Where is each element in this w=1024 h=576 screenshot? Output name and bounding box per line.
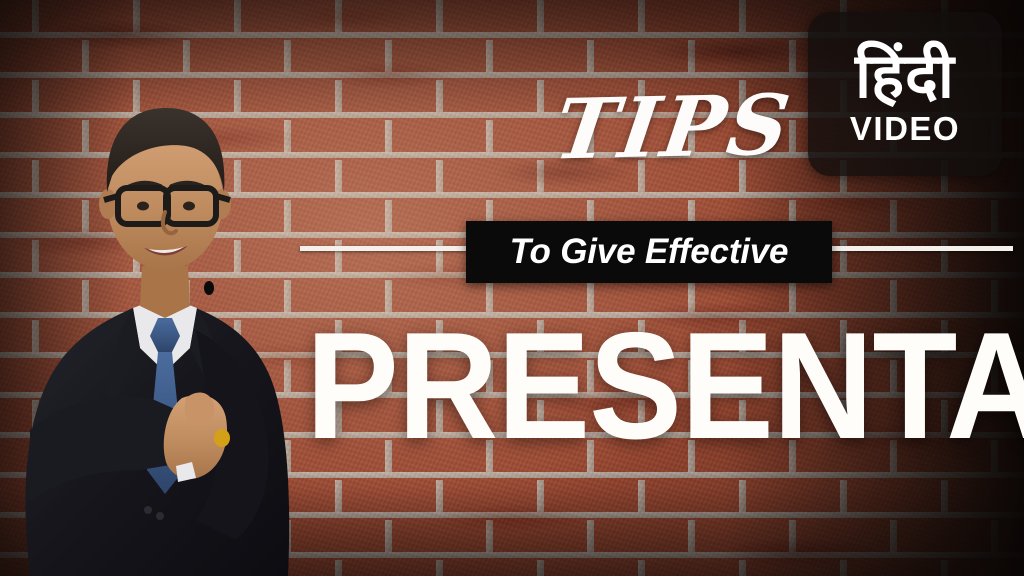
jacket-button xyxy=(156,512,164,520)
language-badge: हिंदी VIDEO xyxy=(808,12,1002,176)
divider-line-right xyxy=(831,246,1013,251)
language-badge-script-label: हिंदी xyxy=(855,43,955,108)
main-title-presentation: PRESENTATION xyxy=(306,312,956,461)
eyebrow-text-tips: TIPS xyxy=(550,84,797,172)
video-thumbnail: TIPS To Give Effective PRESENTATION हिंद… xyxy=(0,0,1024,576)
left-ear xyxy=(99,189,117,219)
subtitle-banner: To Give Effective xyxy=(466,221,832,283)
gold-ring xyxy=(214,429,230,447)
divider-line-left xyxy=(300,246,468,251)
presenter-photo xyxy=(0,0,330,576)
lapel-microphone xyxy=(204,281,214,295)
subtitle-text: To Give Effective xyxy=(510,232,789,272)
right-eye xyxy=(183,202,195,211)
presenter-illustration xyxy=(0,0,330,576)
left-eye xyxy=(137,202,149,211)
thumb xyxy=(185,392,215,426)
jacket-button xyxy=(144,506,152,514)
language-badge-video-label: VIDEO xyxy=(850,112,960,145)
